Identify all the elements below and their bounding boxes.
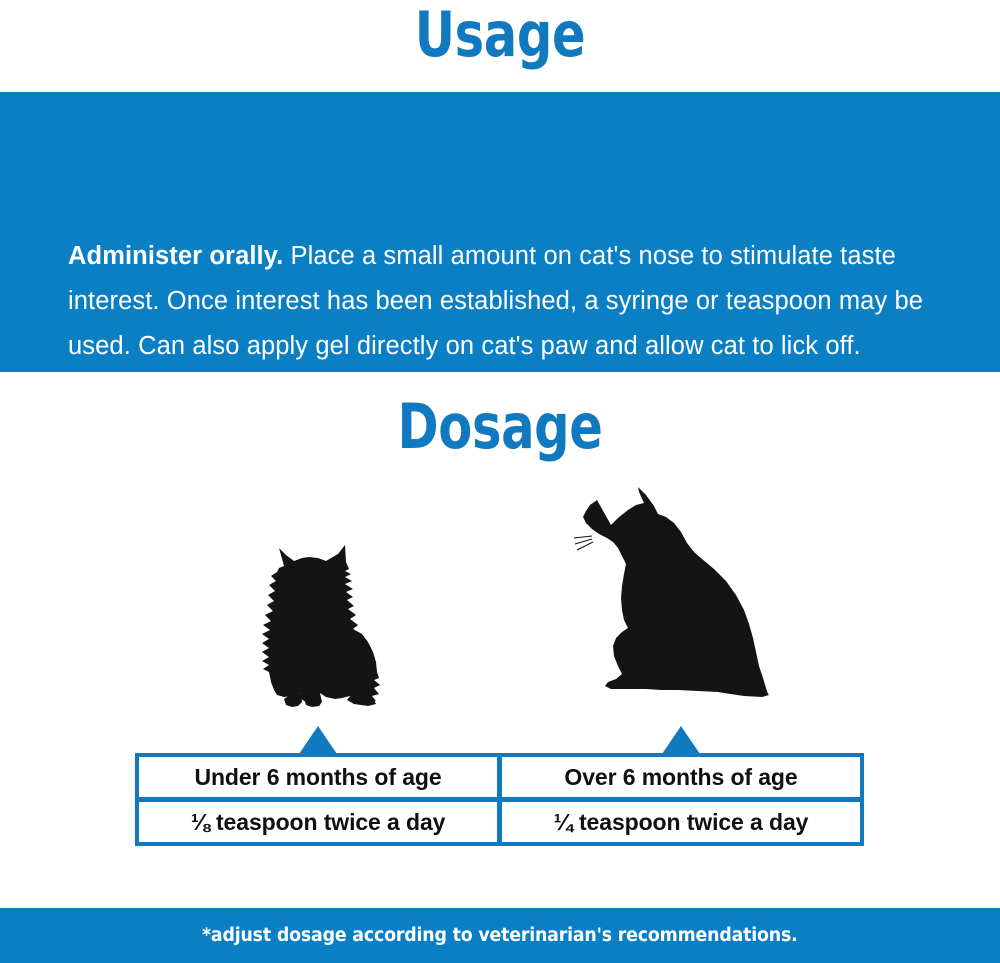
usage-instructions: Administer orally. Place a small amount … <box>68 234 928 369</box>
dosage-table: Under 6 months of age Over 6 months of a… <box>135 753 864 847</box>
dosage-age-cell-under-6-months: Under 6 months of age <box>135 753 501 801</box>
dosage-age-cell-over-6-months: Over 6 months of age <box>498 753 864 801</box>
triangle-up-icon-right-column <box>662 726 700 754</box>
sitting-kitten-silhouette-icon <box>246 536 396 726</box>
footer-blue-band: *adjust dosage according to veterinarian… <box>0 908 1000 963</box>
usage-dosage-infographic: Usage Administer orally. Place a small a… <box>0 0 1000 963</box>
dosage-section-title: Dosage <box>100 396 900 458</box>
footer-disclaimer-note: *adjust dosage according to veterinarian… <box>202 925 798 946</box>
dosage-amount-cell-under-6-months: ⅛ teaspoon twice a day <box>135 798 501 846</box>
sitting-adult-cat-silhouette-icon <box>566 486 796 726</box>
triangle-up-icon-left-column <box>299 726 337 754</box>
usage-blue-panel: Administer orally. Place a small amount … <box>0 92 1000 372</box>
dosage-amount-cell-over-6-months: ¼ teaspoon twice a day <box>498 798 864 846</box>
usage-instructions-lead: Administer orally. <box>68 242 283 270</box>
usage-section-title: Usage <box>100 4 900 66</box>
